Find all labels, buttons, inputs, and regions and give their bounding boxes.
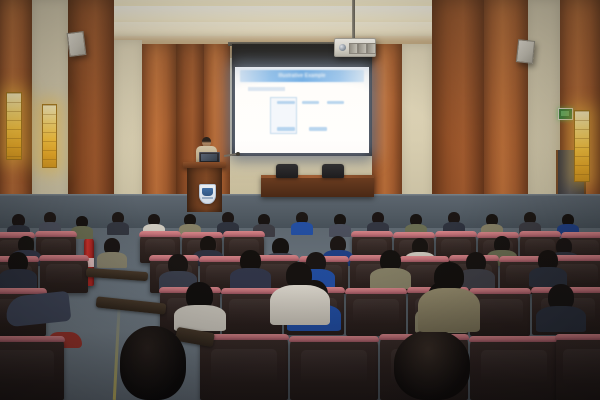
person-shoulders bbox=[107, 222, 129, 235]
auditorium-seat[interactable] bbox=[290, 338, 378, 400]
auditorium-seat[interactable] bbox=[40, 257, 88, 293]
slide-diagram-box bbox=[277, 127, 294, 130]
auditorium-seat[interactable] bbox=[346, 290, 406, 336]
screen-surface: Illustrative Example bbox=[235, 67, 369, 153]
slide-diagram-box bbox=[309, 127, 326, 130]
person-shoulders bbox=[536, 306, 586, 332]
person-shoulders bbox=[230, 268, 271, 289]
slide-diagram-box bbox=[302, 101, 319, 104]
person-shoulders bbox=[370, 268, 411, 289]
projector-lens-icon bbox=[339, 44, 346, 51]
projection-screen: Illustrative Example bbox=[232, 44, 372, 156]
wall-speaker-right bbox=[516, 39, 535, 64]
head-table-chair[interactable] bbox=[276, 164, 298, 178]
slide-title: Illustrative Example bbox=[240, 70, 363, 83]
head-table-chair[interactable] bbox=[322, 164, 344, 178]
wall-sconce-right bbox=[574, 110, 590, 182]
emergency-exit-sign bbox=[558, 108, 573, 120]
wall-sconce-left-outer bbox=[6, 92, 22, 160]
projector-vent bbox=[349, 43, 358, 54]
wall-sconce-left-inner bbox=[42, 104, 57, 168]
person-shoulders bbox=[97, 252, 127, 268]
slide-diagram-box bbox=[327, 101, 344, 104]
projector-mount-pole bbox=[352, 0, 355, 40]
wall-speaker-left bbox=[67, 31, 87, 57]
auditorium-seat[interactable] bbox=[200, 336, 288, 400]
microphone-head-icon bbox=[236, 152, 240, 156]
person-shoulders bbox=[418, 288, 480, 332]
speaker-podium bbox=[185, 162, 224, 212]
head-table bbox=[261, 175, 374, 197]
ceiling-projector bbox=[334, 38, 376, 57]
person-head bbox=[120, 326, 186, 400]
auditorium-scene: Illustrative Example bbox=[0, 0, 600, 400]
person-shoulders bbox=[291, 222, 313, 235]
university-crest-icon bbox=[199, 184, 216, 204]
auditorium-seat[interactable] bbox=[470, 338, 558, 400]
person-shoulders bbox=[0, 269, 37, 289]
slide-title-bar: Illustrative Example bbox=[240, 70, 363, 83]
screen-frame: Illustrative Example bbox=[232, 64, 372, 156]
podium-body bbox=[187, 168, 222, 212]
slide-body bbox=[240, 84, 363, 148]
slide-diagram-box bbox=[277, 101, 294, 104]
projector-vent bbox=[367, 43, 376, 54]
person-head bbox=[394, 330, 470, 400]
projected-slide: Illustrative Example bbox=[235, 67, 369, 153]
slide-subheading bbox=[248, 87, 285, 90]
auditorium-seat[interactable] bbox=[556, 336, 600, 400]
person-shoulders bbox=[329, 224, 351, 237]
person-shoulders bbox=[270, 285, 330, 325]
projector-vent bbox=[358, 43, 367, 54]
auditorium-seat[interactable] bbox=[0, 338, 64, 400]
